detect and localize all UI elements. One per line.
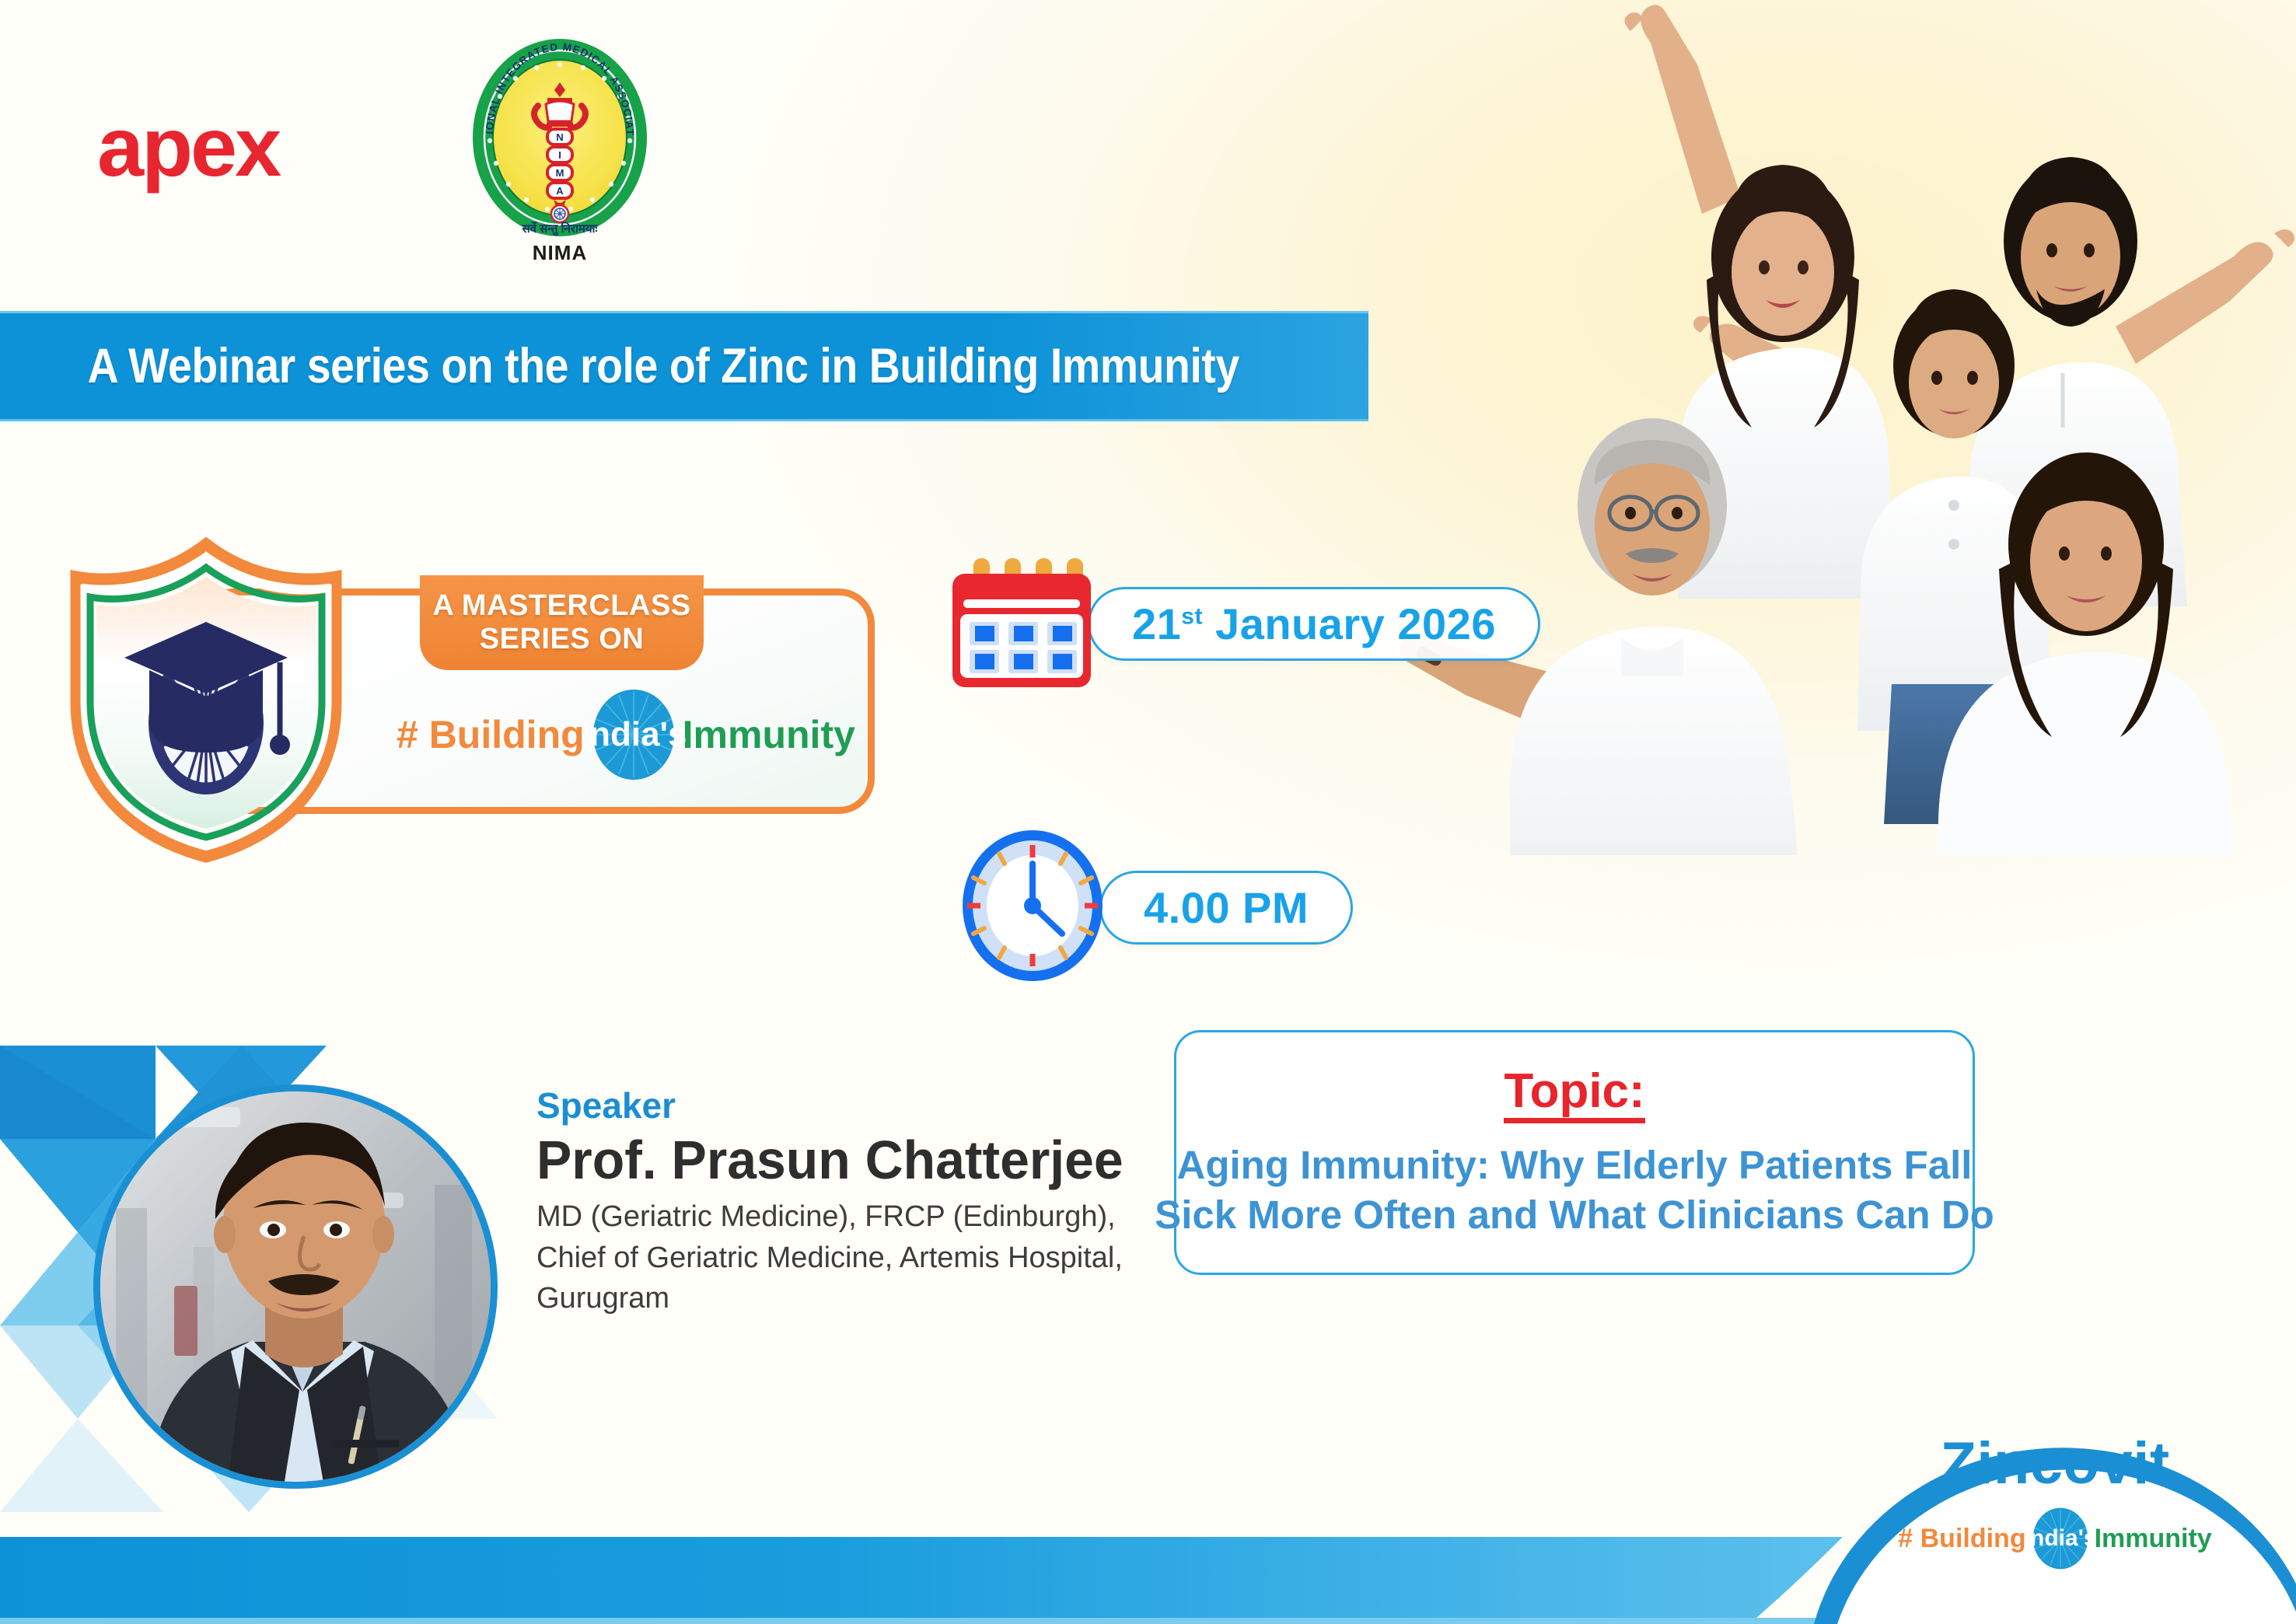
shield-icon [62, 536, 350, 863]
event-time-row: 4.00 PM [955, 828, 1353, 987]
nima-motto-text: सर्वे सन्तु निरामयाः [522, 222, 599, 236]
zincovit-inner: Zincovit # Building India's [1814, 1414, 2296, 1624]
zincovit-tagline-middle: India's [2029, 1507, 2092, 1570]
event-date-text: 21st January 2026 [1132, 599, 1496, 649]
svg-text:I: I [558, 149, 561, 161]
masterclass-line2: SERIES ON [480, 623, 644, 656]
tagline-middle: India's [588, 689, 680, 781]
apex-logo: apex [97, 105, 279, 189]
masterclass-tagline: # Building India's Immunity [397, 700, 863, 770]
zincovit-logo: Zincovit # Building India's [1721, 1367, 2296, 1624]
clock-icon [955, 828, 1110, 987]
svg-text:M: M [556, 167, 564, 179]
topic-label: Topic: [1504, 1066, 1644, 1123]
tagline-hash: # Building [397, 712, 585, 757]
ashoka-chakra-icon: India's [588, 689, 680, 781]
webinar-poster: apex [0, 0, 2296, 1624]
topic-line-2: Sick More Often and What Clinicians Can … [1155, 1190, 1994, 1239]
main-banner: A Webinar series on the role of Zinc in … [0, 311, 1368, 421]
masterclass-line1: A MASTERCLASS [432, 589, 690, 623]
zincovit-name: Zincovit [1940, 1434, 2169, 1493]
speaker-label: Speaker [536, 1084, 1127, 1126]
masterclass-badge: A MASTERCLASS SERIES ON [62, 536, 886, 863]
topic-line-1: Aging Immunity: Why Elderly Patients Fal… [1177, 1140, 1973, 1189]
credential-line: MD (Geriatric Medicine), FRCP (Edinburgh… [536, 1196, 1127, 1237]
tagline-end: Immunity [683, 712, 855, 757]
credential-line: Chief of Geriatric Medicine, Artemis Hos… [536, 1238, 1127, 1278]
calendar-icon [945, 544, 1100, 704]
zincovit-tagline-hash: # Building [1898, 1524, 2025, 1554]
event-time-text: 4.00 PM [1144, 882, 1309, 933]
zincovit-tagline-end: Immunity [2095, 1524, 2212, 1554]
zincovit-tagline: # Building India's Immunity [1898, 1507, 2211, 1570]
nima-logo-block: NATIONAL INTEGRATED MEDICAL ASSOCIATION [467, 37, 653, 265]
family-photo [1316, 0, 2296, 855]
event-time-pill: 4.00 PM [1099, 871, 1353, 945]
speaker-info: Speaker Prof. Prasun Chatterjee MD (Geri… [536, 1084, 1127, 1319]
ashoka-chakra-icon: India's [2029, 1507, 2092, 1570]
event-date-row: 21st January 2026 [945, 544, 1540, 704]
nima-emblem-icon: NATIONAL INTEGRATED MEDICAL ASSOCIATION [470, 37, 650, 238]
svg-text:N: N [556, 131, 563, 143]
credential-line: Gurugram [536, 1278, 1127, 1318]
banner-title: A Webinar series on the role of Zinc in … [0, 338, 1239, 394]
svg-text:A: A [556, 185, 564, 197]
nima-label: NIMA [467, 241, 653, 265]
speaker-name: Prof. Prasun Chatterjee [536, 1131, 1110, 1189]
masterclass-tab: A MASTERCLASS SERIES ON [420, 575, 704, 670]
event-date-pill: 21st January 2026 [1088, 587, 1540, 661]
topic-box: Topic: Aging Immunity: Why Elderly Patie… [1174, 1030, 1975, 1275]
speaker-credentials: MD (Geriatric Medicine), FRCP (Edinburgh… [536, 1196, 1127, 1318]
speaker-photo [93, 1084, 498, 1489]
